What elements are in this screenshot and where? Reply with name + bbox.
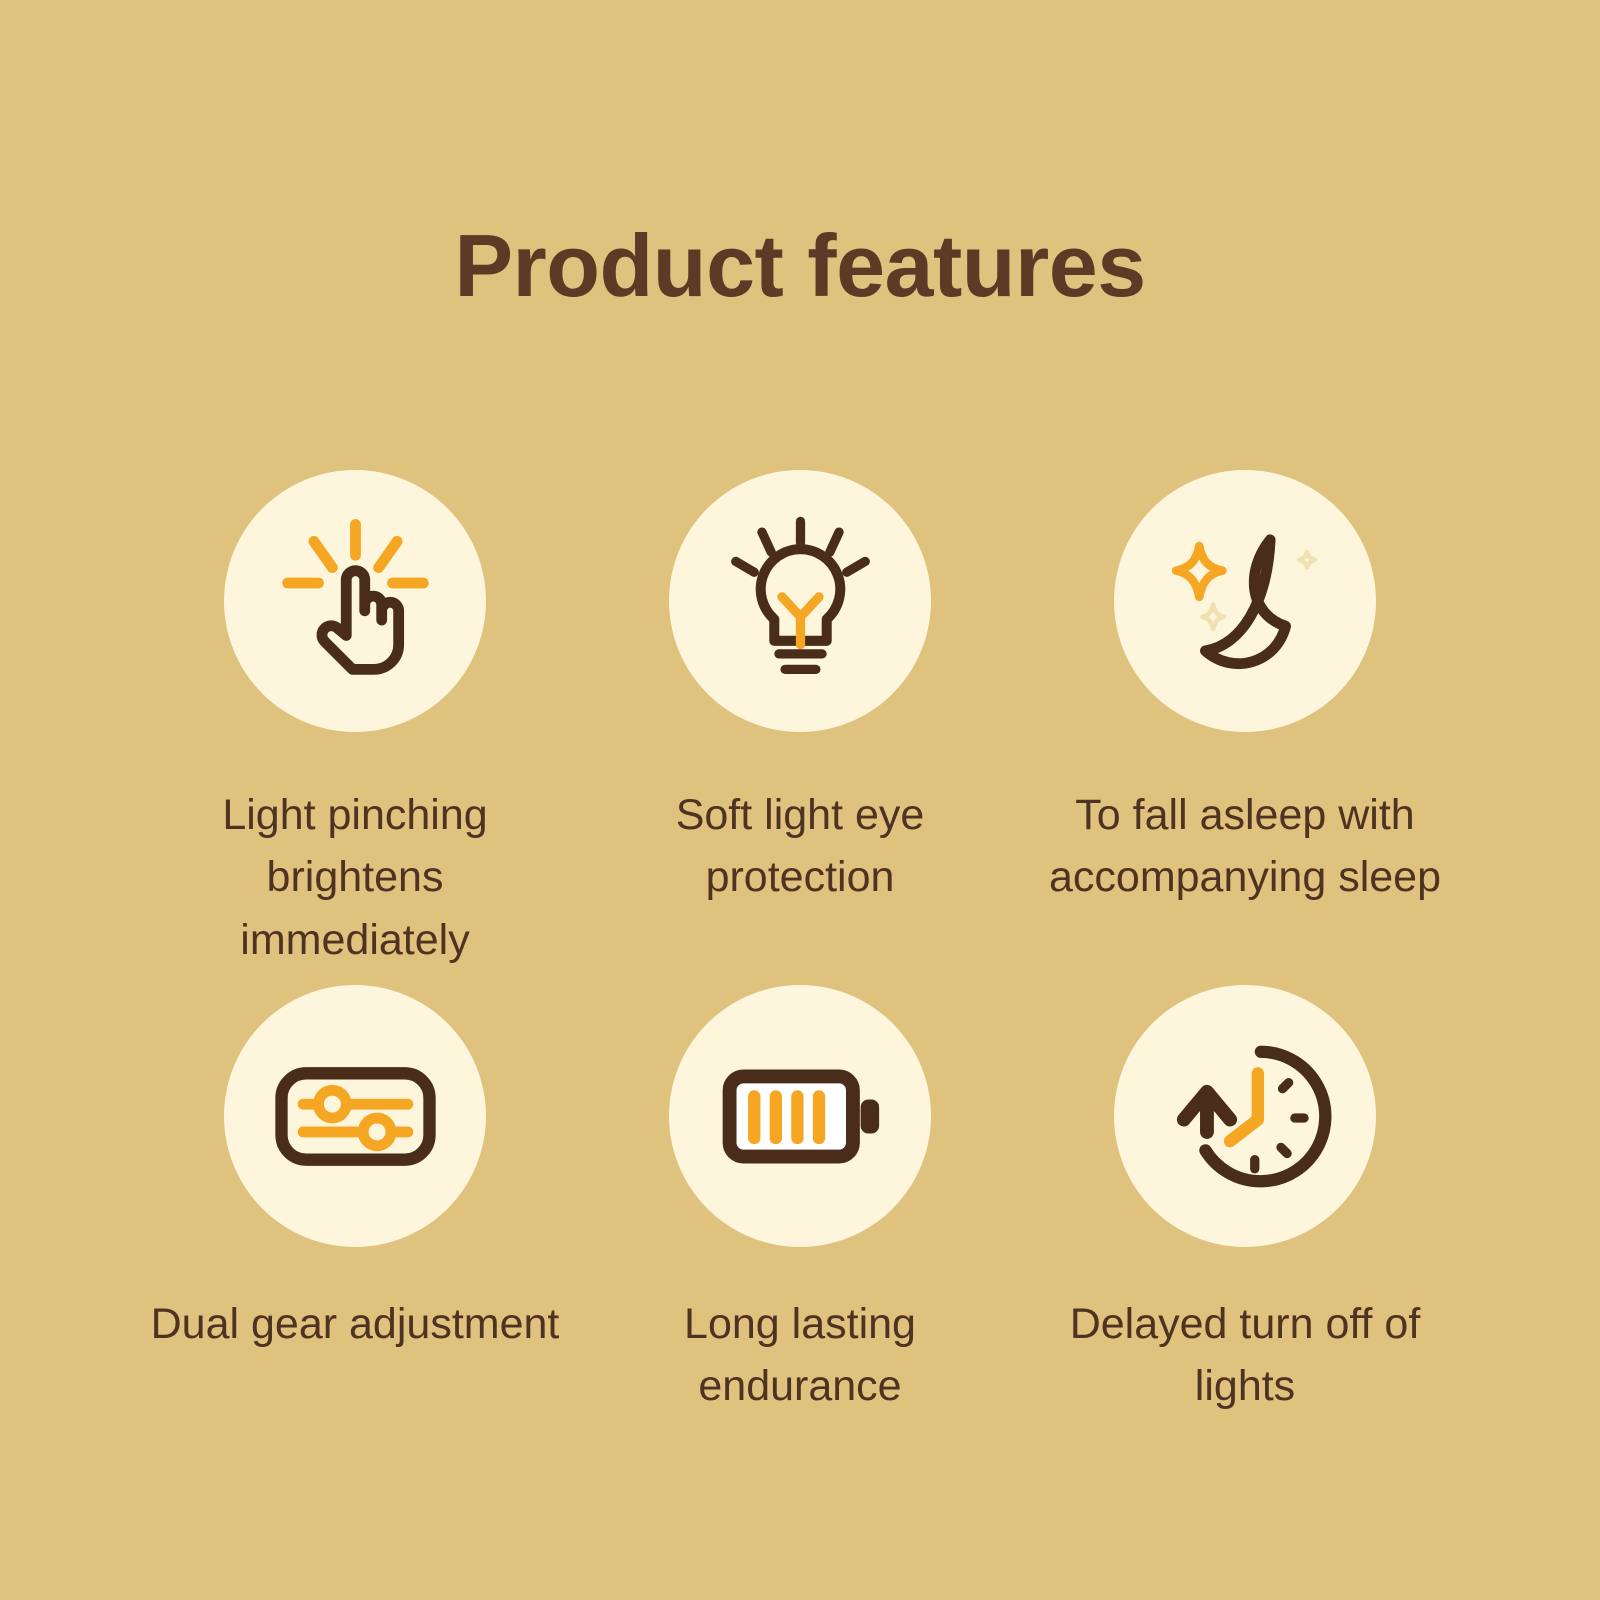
icon-circle-lightbulb xyxy=(669,470,931,732)
feature-card-moon: To fall asleep with accompanying sleep xyxy=(1023,470,1468,909)
feature-label: Delayed turn off of lights xyxy=(1030,1293,1460,1418)
feature-card-timer: Delayed turn off of lights xyxy=(1023,985,1468,1418)
feature-card-sliders: Dual gear adjustment xyxy=(133,985,578,1355)
features-row-1: Light pinching brightens immediately xyxy=(0,470,1600,985)
icon-circle-sliders xyxy=(224,985,486,1247)
feature-label: To fall asleep with accompanying sleep xyxy=(1030,784,1460,909)
icon-circle-timer xyxy=(1114,985,1376,1247)
features-row-2: Dual gear adjustment xyxy=(0,985,1600,1405)
icon-circle-tap xyxy=(224,470,486,732)
sliders-icon xyxy=(263,1024,448,1209)
feature-label: Light pinching brightens immediately xyxy=(140,784,570,971)
page-title: Product features xyxy=(0,222,1600,310)
product-features-page: Product features xyxy=(0,0,1600,1600)
feature-label: Long lasting endurance xyxy=(585,1293,1015,1418)
battery-icon xyxy=(708,1024,893,1209)
feature-card-lightbulb: Soft light eye protection xyxy=(578,470,1023,909)
icon-circle-moon xyxy=(1114,470,1376,732)
feature-card-tap: Light pinching brightens immediately xyxy=(133,470,578,971)
icon-circle-battery xyxy=(669,985,931,1247)
tap-finger-icon xyxy=(263,509,448,694)
timer-clock-icon xyxy=(1153,1024,1338,1209)
feature-label: Dual gear adjustment xyxy=(145,1293,566,1355)
feature-label: Soft light eye protection xyxy=(585,784,1015,909)
feature-card-battery: Long lasting endurance xyxy=(578,985,1023,1418)
features-grid: Light pinching brightens immediately xyxy=(0,470,1600,1405)
lightbulb-icon xyxy=(708,509,893,694)
crescent-moon-icon xyxy=(1153,509,1338,694)
